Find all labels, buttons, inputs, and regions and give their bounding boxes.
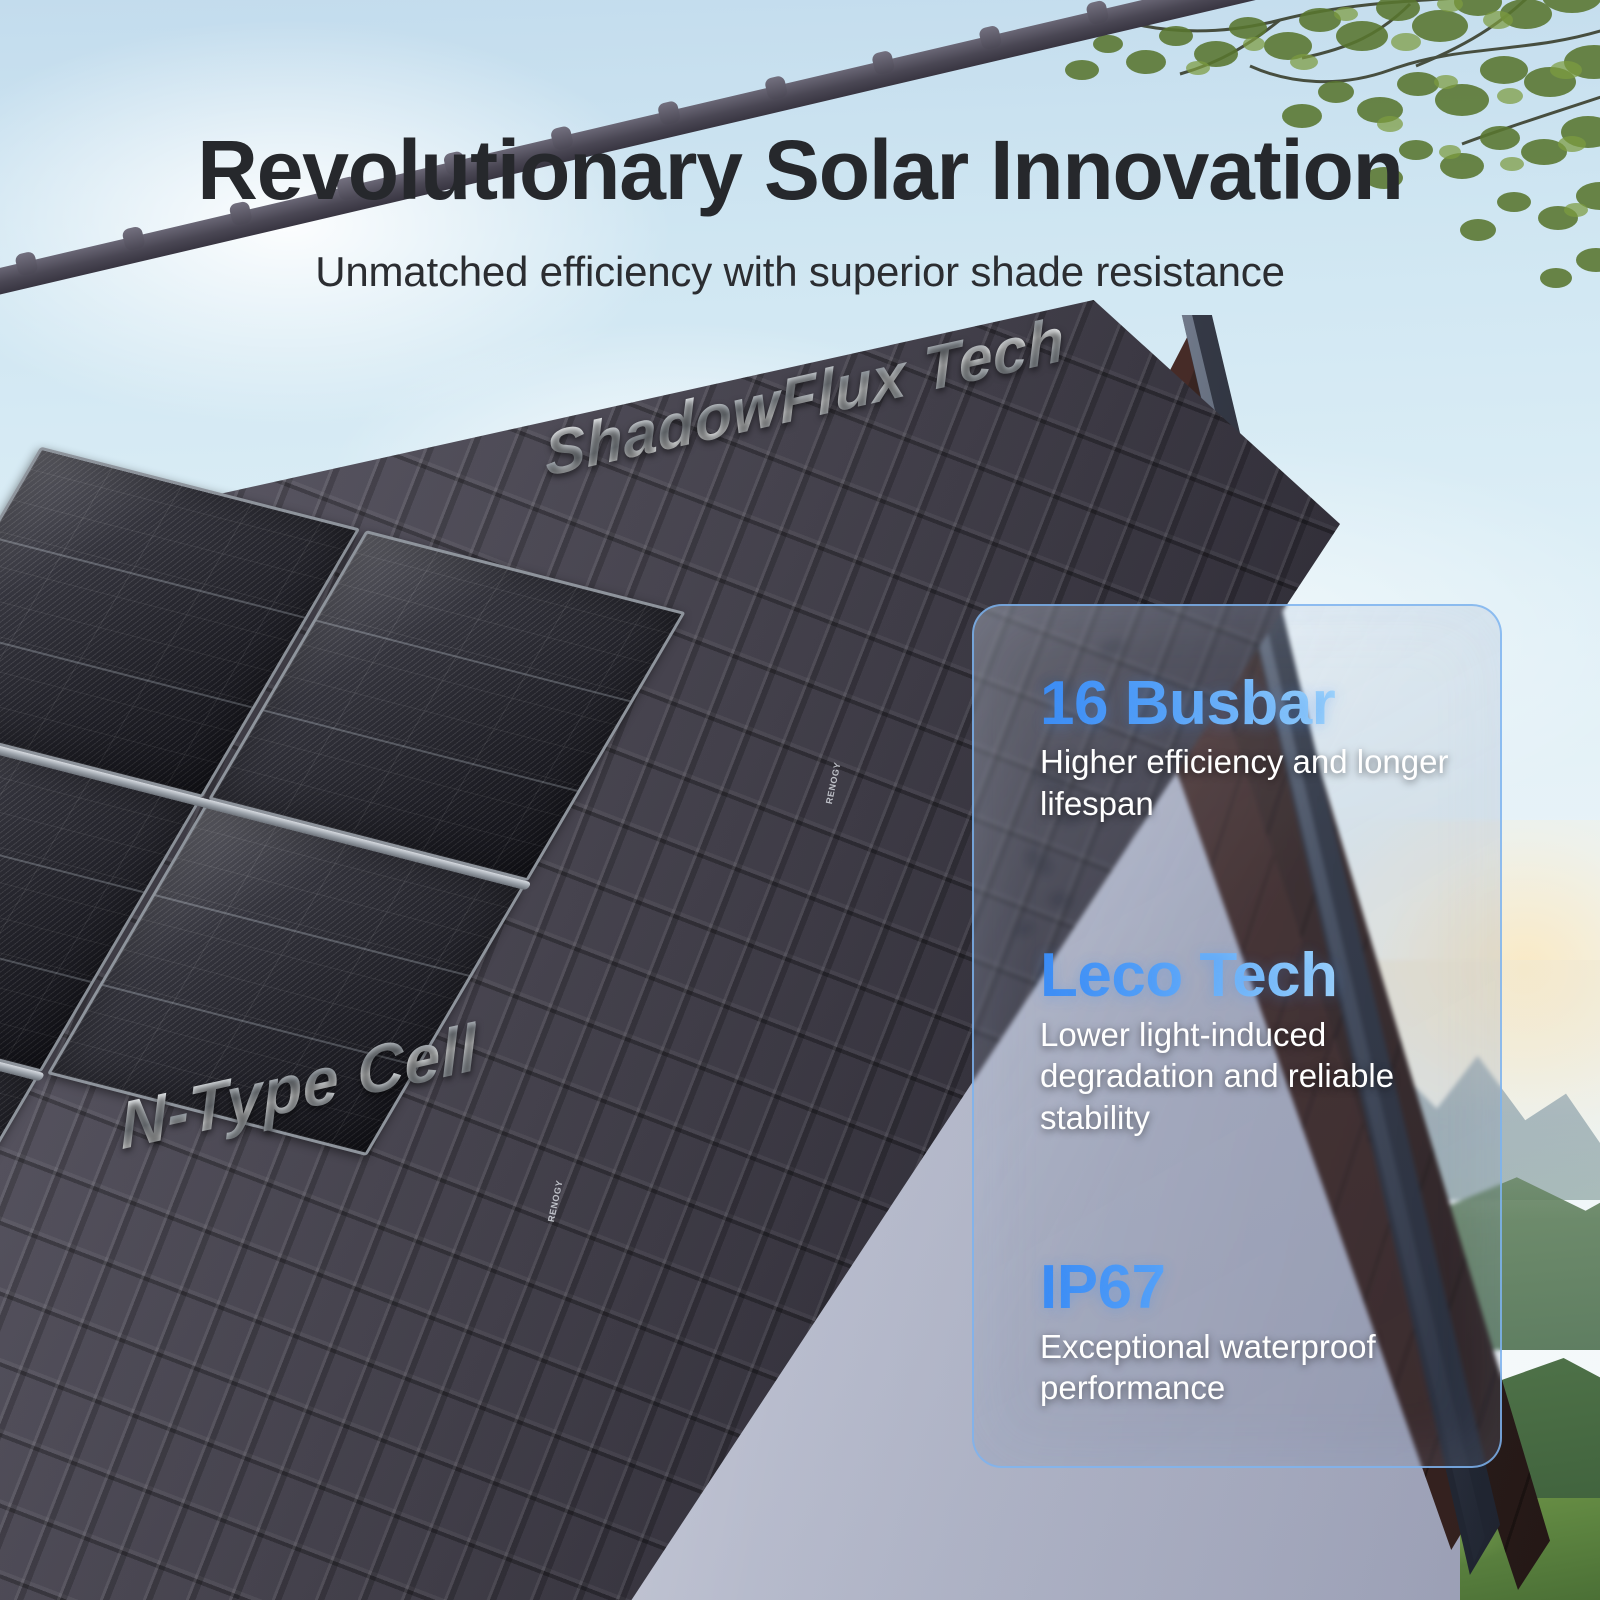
- feature-description: Exceptional waterproof performance: [1040, 1326, 1460, 1409]
- feature-item-16-busbar: 16 Busbar Higher efficiency and longer l…: [1040, 672, 1476, 824]
- feature-item-ip67: IP67 Exceptional waterproof performance: [1040, 1256, 1476, 1408]
- feature-highlights-card: 16 Busbar Higher efficiency and longer l…: [972, 604, 1502, 1468]
- feature-list: 16 Busbar Higher efficiency and longer l…: [974, 606, 1500, 1466]
- poster-canvas: ShadowFlux Tech N-Type Cell RENOGY RENOG…: [0, 0, 1600, 1600]
- page-title: Revolutionary Solar Innovation: [0, 126, 1600, 215]
- feature-title: Leco Tech: [1040, 944, 1476, 1007]
- feature-description: Higher efficiency and longer lifespan: [1040, 741, 1460, 824]
- feature-title: 16 Busbar: [1040, 672, 1476, 735]
- feature-description: Lower light-induced degradation and reli…: [1040, 1014, 1460, 1139]
- feature-title: IP67: [1040, 1256, 1476, 1319]
- page-subtitle: Unmatched efficiency with superior shade…: [0, 248, 1600, 296]
- feature-item-leco-tech: Leco Tech Lower light-induced degradatio…: [1040, 944, 1476, 1138]
